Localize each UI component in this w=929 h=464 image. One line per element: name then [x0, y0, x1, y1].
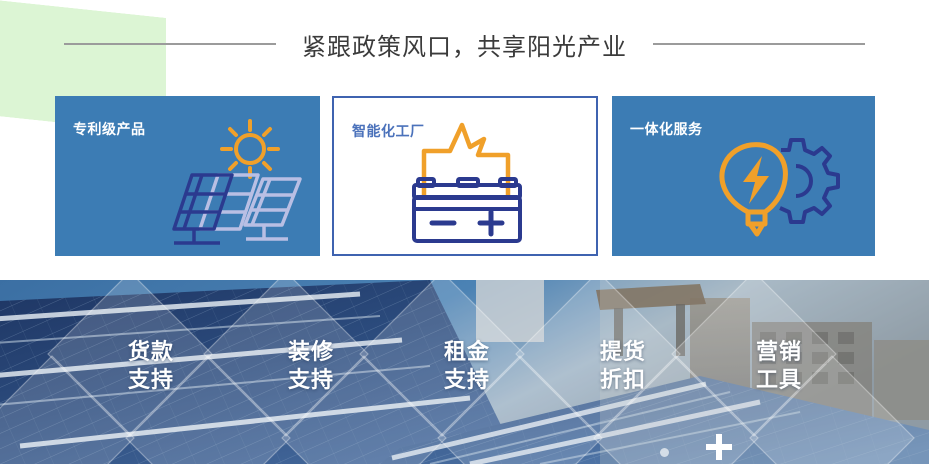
feature-card-smart-factory[interactable]: 智能化工厂 — [332, 96, 598, 256]
page-title: 紧跟政策风口，共享阳光产业 — [302, 27, 627, 62]
benefit-label-group: 货款 支持 装修 支持 租金 支持 提货 折扣 营销 工具 — [0, 280, 929, 464]
benefit-label-pickup-discount: 提货 折扣 — [600, 338, 720, 394]
benefit-label-marketing-tools: 营销 工具 — [756, 338, 876, 394]
header-rule-left — [64, 43, 276, 45]
decor-dot — [660, 448, 669, 457]
feature-card-integrated-service[interactable]: 一体化服务 — [612, 96, 875, 256]
benefit-label-renovation-support: 装修 支持 — [288, 338, 408, 394]
benefit-label-loan-support: 货款 支持 — [128, 338, 248, 394]
lightbulb-gear-icon — [685, 120, 845, 250]
battery-bolt-icon — [392, 117, 552, 252]
feature-card-row: 专利级产品 — [55, 96, 875, 256]
section-header: 紧跟政策风口，共享阳光产业 — [0, 0, 929, 88]
promo-banner: 紧跟政策风口，共享阳光产业 专利级产品 — [0, 0, 929, 464]
feature-card-patent-product[interactable]: 专利级产品 — [55, 96, 320, 256]
benefit-label-rent-support: 租金 支持 — [444, 338, 564, 394]
header-rule-right — [653, 43, 865, 45]
plus-icon — [706, 434, 732, 460]
benefits-photo-band: 货款 支持 装修 支持 租金 支持 提货 折扣 营销 工具 — [0, 280, 929, 464]
solar-panels-sun-icon — [112, 117, 312, 252]
